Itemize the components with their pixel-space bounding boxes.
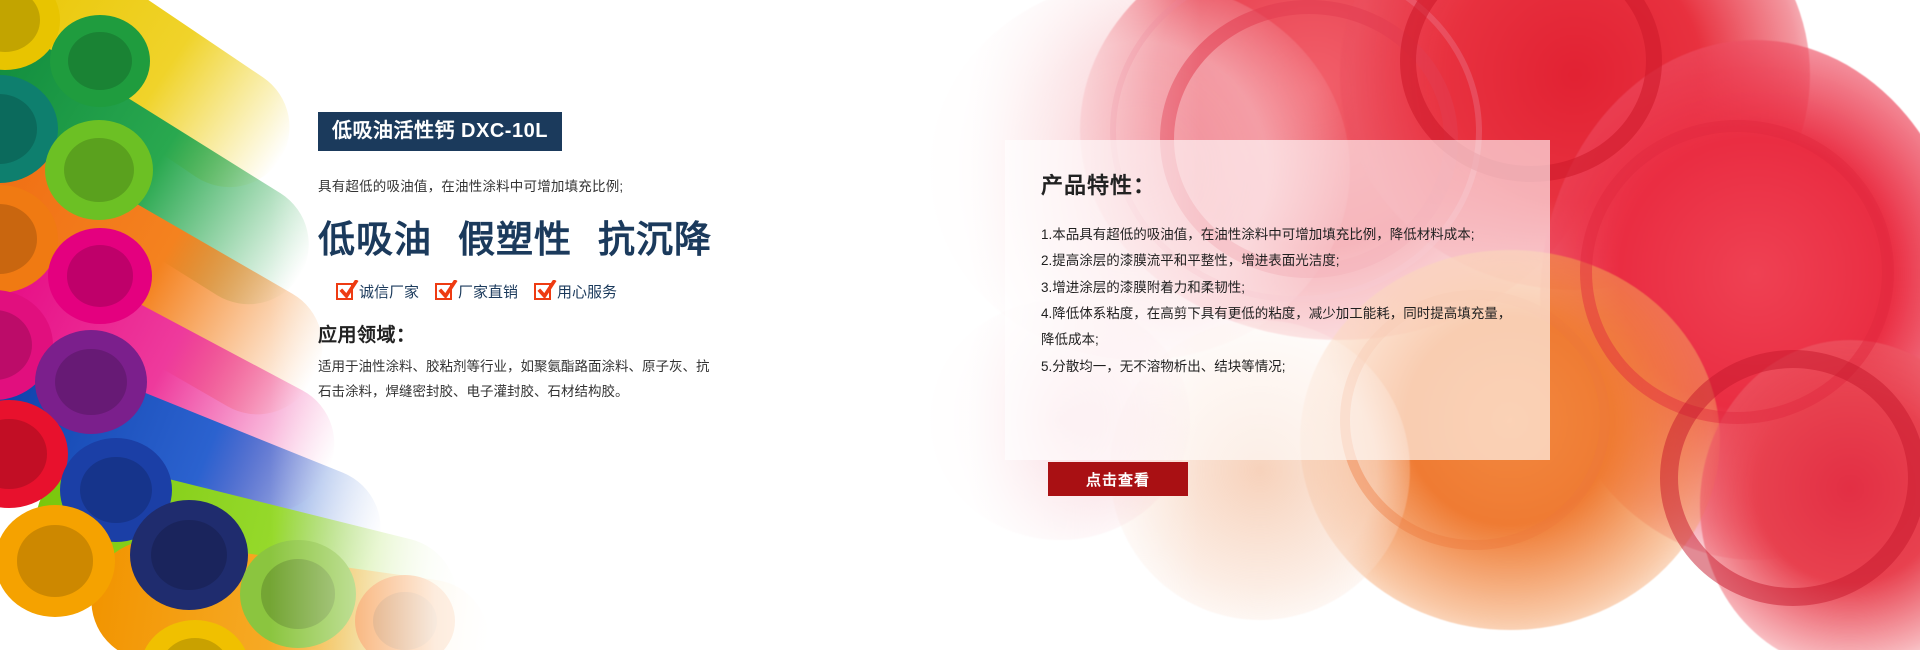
list-item: 2.提高涂层的漆膜流平和平整性，增进表面光洁度;	[1041, 248, 1514, 274]
headline-word-1: 低吸油	[318, 220, 432, 261]
feature-badge-1: 诚信厂家	[336, 281, 419, 302]
application-description: 适用于油性涂料、胶粘剂等行业，如聚氨酯路面涂料、原子灰、抗石击涂料，焊缝密封胶、…	[318, 355, 718, 405]
paint-can	[45, 120, 153, 220]
left-content: 低吸油活性钙 DXC-10L 具有超低的吸油值，在油性涂料中可增加填充比例; 低…	[318, 112, 748, 405]
paint-can	[50, 15, 150, 107]
feature-badge-2: 厂家直销	[435, 281, 518, 302]
headline-word-2: 假塑性	[458, 220, 572, 261]
product-subtitle: 具有超低的吸油值，在油性涂料中可增加填充比例;	[318, 175, 748, 195]
feature-label: 用心服务	[557, 281, 617, 302]
headline-word-3: 抗沉降	[598, 220, 712, 261]
feature-label: 诚信厂家	[359, 281, 419, 302]
panel-feature-list: 1.本品具有超低的吸油值，在油性涂料中可增加填充比例，降低材料成本; 2.提高涂…	[1041, 222, 1514, 380]
check-icon	[534, 283, 551, 300]
application-title: 应用领域：	[318, 320, 748, 347]
background-art	[0, 0, 1920, 650]
paint-can	[48, 228, 152, 324]
panel-title: 产品特性：	[1041, 168, 1514, 200]
check-icon	[336, 283, 353, 300]
feature-label: 厂家直销	[458, 281, 518, 302]
list-item: 5.分散均一，无不溶物析出、结块等情况;	[1041, 354, 1514, 380]
product-title-badge: 低吸油活性钙 DXC-10L	[318, 112, 562, 151]
view-details-button[interactable]: 点击查看	[1048, 462, 1188, 496]
list-item: 4.降低体系粘度，在高剪下具有更低的粘度，减少加工能耗，同时提高填充量，降低成本…	[1041, 301, 1514, 354]
promo-banner: 低吸油活性钙 DXC-10L 具有超低的吸油值，在油性涂料中可增加填充比例; 低…	[0, 0, 1920, 650]
list-item: 1.本品具有超低的吸油值，在油性涂料中可增加填充比例，降低材料成本;	[1041, 222, 1514, 248]
paint-can	[130, 500, 248, 610]
feature-badge-3: 用心服务	[534, 281, 617, 302]
headline-keywords: 低吸油假塑性抗沉降	[318, 209, 748, 263]
check-icon	[435, 283, 452, 300]
product-features-panel: 产品特性： 1.本品具有超低的吸油值，在油性涂料中可增加填充比例，降低材料成本;…	[1005, 140, 1550, 460]
paint-can	[0, 505, 115, 617]
list-item: 3.增进涂层的漆膜附着力和柔韧性;	[1041, 275, 1514, 301]
feature-badge-row: 诚信厂家 厂家直销 用心服务	[318, 281, 748, 302]
paint-ring	[1660, 350, 1920, 606]
